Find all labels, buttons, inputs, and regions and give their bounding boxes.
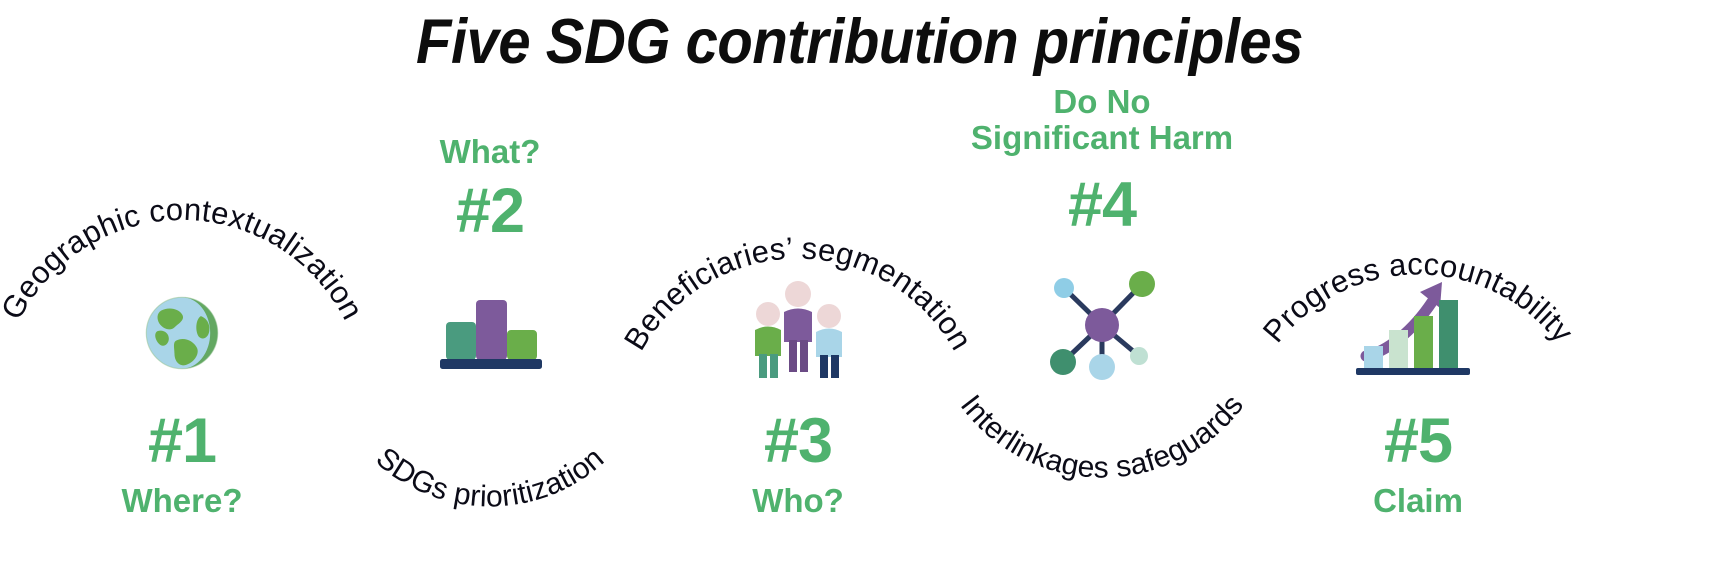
- growth-chart-icon-box: [1228, 262, 1608, 380]
- page-title: Five SDG contribution principles: [69, 6, 1650, 78]
- infographic-canvas: Five SDG contribution principles Geograp…: [0, 0, 1719, 588]
- globe-icon: [135, 286, 229, 380]
- principle-card-5: Progress accountability #5 Claim: [1228, 92, 1608, 562]
- people-group-icon: [744, 274, 852, 382]
- growth-chart-icon: [1356, 268, 1480, 380]
- arc-textpath-4: Interlinkages safeguards: [954, 389, 1250, 485]
- bar-chart-icon: [430, 286, 550, 372]
- principle-sublabel-5: Claim: [1228, 484, 1608, 517]
- network-nodes-icon: [1043, 270, 1161, 380]
- principle-number-5: #5: [1228, 410, 1608, 473]
- arc-textpath-2: SDGs prioritization: [370, 441, 610, 513]
- arc-label-text-2: SDGs prioritization: [370, 441, 610, 513]
- arc-label-text-4: Interlinkages safeguards: [954, 389, 1250, 485]
